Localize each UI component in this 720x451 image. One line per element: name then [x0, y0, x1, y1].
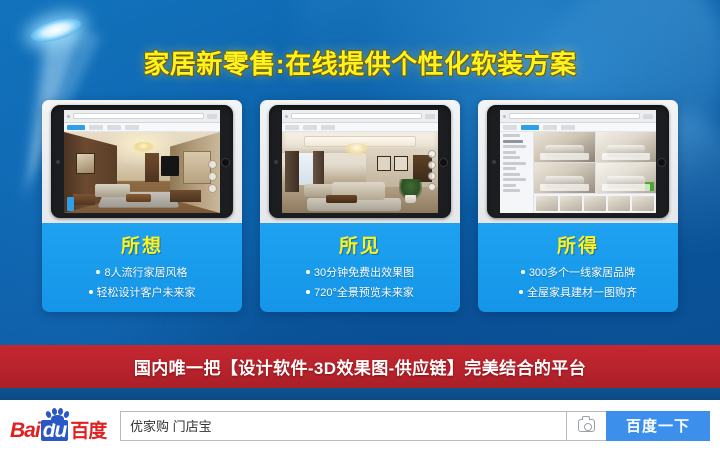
product-grid [534, 132, 656, 193]
logo-chinese-text: 百度 [70, 422, 106, 441]
sidebar-item [503, 178, 526, 181]
address-bar [73, 113, 204, 119]
window-dot-icon [503, 115, 506, 118]
curtain-left [285, 151, 299, 192]
search-input[interactable]: 优家购 门店宝 [120, 411, 566, 441]
product-tile [534, 132, 594, 162]
modern-living-room-render [282, 132, 438, 213]
toolbar-tab [303, 125, 317, 130]
card-1-device-frame [42, 100, 242, 223]
render-tool-palette [428, 150, 436, 191]
toolbar-tab [89, 125, 103, 130]
bottom-action-button [67, 197, 74, 211]
browser-chrome [64, 110, 220, 123]
wall-art [76, 153, 95, 174]
baidu-search-bar: Bai du 百度 优家购 门店宝 百度一下 [0, 400, 720, 451]
sidebar-item [503, 173, 520, 176]
bullet-dot-icon [306, 290, 310, 294]
paw-toe-icon [52, 407, 58, 415]
filter-chip [561, 125, 575, 130]
sidebar-item-selected [503, 140, 523, 143]
promo-poster: 家居新零售:在线提供个性化软装方案 [0, 0, 720, 400]
paw-pad-icon [51, 415, 64, 424]
bullet-text: 300多个一线家居品牌 [529, 264, 635, 280]
filter-chip-active [521, 125, 539, 130]
thumbnail [632, 196, 654, 211]
sidebar-item [503, 145, 526, 148]
card-1-bullet-1: 8人流行家居风格 [51, 264, 233, 280]
bullet-text: 30分钟免费出效果图 [314, 264, 414, 280]
render-tool-palette [208, 160, 217, 193]
bullet-text: 720°全景预览未来家 [314, 284, 414, 300]
toolbar-tab [125, 125, 139, 130]
card-2-device-frame [260, 100, 460, 223]
browser-chrome [500, 110, 656, 123]
paw-toe-icon [58, 407, 64, 415]
address-bar [509, 113, 640, 119]
tablet-device [269, 105, 451, 218]
toolbar-tab [321, 125, 335, 130]
tool-icon [428, 161, 436, 169]
tool-icon [208, 160, 217, 169]
tablet-device [487, 105, 669, 218]
bullet-dot-icon [306, 270, 310, 274]
card-3-device-frame [478, 100, 678, 223]
browser-chrome [282, 110, 438, 123]
product-tile [596, 163, 656, 193]
logo-bai-text: Bai [10, 420, 40, 441]
thumbnail [536, 196, 558, 211]
tablet-device [51, 105, 233, 218]
banner-bottom-strip [0, 388, 720, 400]
tablet-screen-catalog [500, 110, 656, 213]
feature-card-2: 所见 30分钟免费出效果图 720°全景预览未来家 [260, 100, 460, 312]
window-dot-icon [285, 115, 288, 118]
thumbnail [560, 196, 582, 211]
toolbar-tab [285, 125, 299, 130]
window-dot-icon [67, 115, 70, 118]
thumbnail [608, 196, 630, 211]
bullet-text: 轻松设计客户未来家 [97, 284, 196, 300]
filter-chip [543, 125, 557, 130]
sidebar-item [503, 167, 516, 170]
app-toolbar [64, 123, 220, 132]
wall-art [377, 156, 391, 171]
menu-icon [207, 114, 217, 119]
menu-icon [643, 114, 653, 119]
tool-icon [428, 172, 436, 180]
card-3-bullet-1: 300多个一线家居品牌 [487, 264, 669, 280]
card-1-caption: 所想 8人流行家居风格 轻松设计客户未来家 [42, 223, 242, 312]
card-2-bullet-1: 30分钟免费出效果图 [269, 264, 451, 280]
plant-pot [405, 195, 416, 203]
catalog-main [534, 132, 656, 213]
card-3-title: 所得 [487, 231, 669, 258]
cabinet [170, 190, 201, 201]
toolbar-tab-active [67, 125, 85, 130]
search-field-group: 优家购 门店宝 百度一下 [120, 411, 710, 441]
menu-icon [425, 114, 435, 119]
tablet-screen-render-viewer [282, 110, 438, 213]
sidebar-item [503, 134, 520, 137]
chandelier [133, 142, 155, 153]
paw-toe-icon [63, 410, 70, 418]
bullet-text: 8人流行家居风格 [104, 264, 187, 280]
tool-icon [428, 150, 436, 158]
tv-screen [161, 156, 180, 175]
bullet-dot-icon [89, 290, 93, 294]
wall-panel [183, 151, 211, 183]
feature-card-3: 所得 300多个一线家居品牌 全屋家具建材一图购齐 [478, 100, 678, 312]
camera-icon [578, 419, 595, 432]
doorway [145, 153, 159, 182]
card-2-title: 所见 [269, 231, 451, 258]
tagline-banner: 国内唯一把【设计软件-3D效果图-供应链】完美结合的平台 [0, 345, 720, 388]
card-2-bullet-2: 720°全景预览未来家 [269, 284, 451, 300]
side-table [73, 194, 95, 205]
card-3-caption: 所得 300多个一线家居品牌 全屋家具建材一图购齐 [478, 223, 678, 312]
coffee-table [126, 194, 151, 201]
card-1-bullet-2: 轻松设计客户未来家 [51, 284, 233, 300]
search-submit-button[interactable]: 百度一下 [606, 411, 710, 441]
baidu-logo[interactable]: Bai du 百度 [10, 411, 110, 441]
filter-chip [503, 125, 517, 130]
classic-living-room-render [64, 132, 220, 213]
search-query-text: 优家购 门店宝 [130, 416, 212, 435]
bullet-text: 全屋家具建材一图购齐 [527, 284, 637, 300]
feature-card-1: 所想 8人流行家居风格 轻松设计客户未来家 [42, 100, 242, 312]
tagline-text: 国内唯一把【设计软件-3D效果图-供应链】完美结合的平台 [134, 354, 586, 379]
product-tile [534, 163, 594, 193]
address-bar [291, 113, 422, 119]
tablet-screen-design-tool [64, 110, 220, 213]
tool-icon [428, 183, 436, 191]
product-tile [596, 132, 656, 162]
thumbnail [584, 196, 606, 211]
furniture-catalog-grid [500, 132, 656, 213]
wall-art [394, 156, 408, 171]
card-2-caption: 所见 30分钟免费出效果图 720°全景预览未来家 [260, 223, 460, 312]
bullet-dot-icon [521, 270, 525, 274]
feature-card-list: 所想 8人流行家居风格 轻松设计客户未来家 [0, 100, 720, 312]
card-3-bullet-2: 全屋家具建材一图购齐 [487, 284, 669, 300]
page-title: 家居新零售:在线提供个性化软装方案 [0, 44, 720, 81]
tool-icon [208, 172, 217, 181]
product-thumbnail-strip [534, 193, 656, 213]
paw-print-icon [44, 407, 70, 423]
sofa [95, 184, 129, 197]
toolbar-tab [107, 125, 121, 130]
sidebar-item [503, 162, 526, 165]
tool-icon [208, 184, 217, 193]
spotlight-lamp-icon [28, 13, 83, 47]
sidebar-item [503, 156, 520, 159]
card-1-title: 所想 [51, 231, 233, 258]
camera-search-button[interactable] [566, 411, 606, 441]
catalog-filter-bar [500, 123, 656, 132]
app-toolbar [282, 123, 438, 132]
sidebar-item [503, 184, 516, 187]
sidebar-item [503, 189, 520, 192]
sidebar-item [503, 151, 516, 154]
coffee-table [326, 195, 357, 203]
product-badge-icon [645, 182, 654, 191]
catalog-sidebar [500, 132, 534, 213]
bullet-dot-icon [96, 270, 100, 274]
bullet-dot-icon [519, 290, 523, 294]
